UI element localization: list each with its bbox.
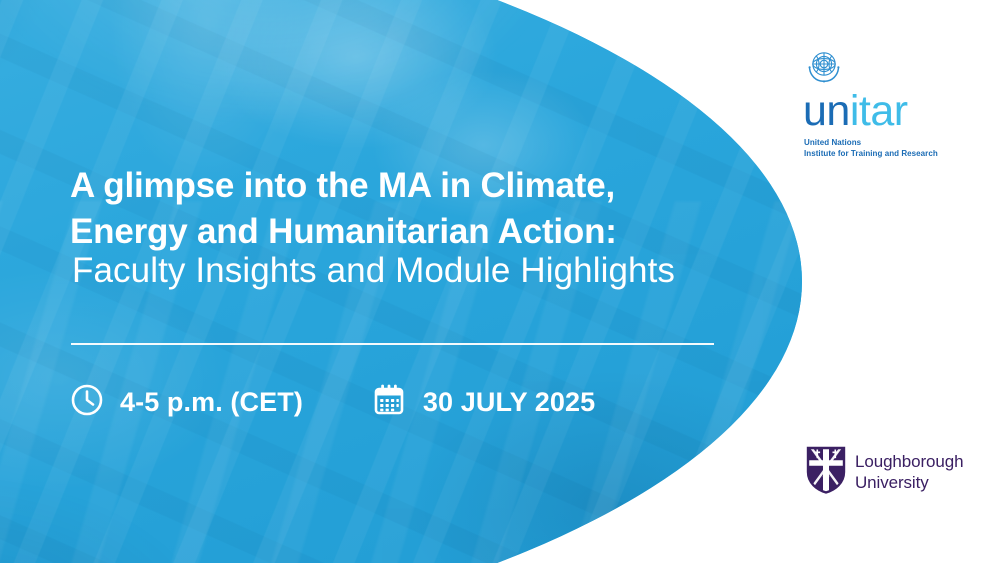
title-line-1: A glimpse into the MA in Climate,	[70, 163, 720, 209]
unitar-wordmark: unitar	[803, 91, 952, 132]
unitar-tagline-line-1: United Nations	[804, 137, 952, 148]
unitar-tagline: United Nations Institute for Training an…	[804, 137, 952, 160]
un-emblem-icon	[804, 48, 952, 89]
loughborough-shield-icon	[806, 446, 846, 499]
page-subtitle: Faculty Insights and Module Highlights	[72, 249, 732, 293]
event-date-text: 30 JULY 2025	[423, 387, 595, 418]
event-details-row: 4-5 p.m. (CET)	[70, 382, 595, 423]
loughborough-name-line-1: Loughborough	[855, 452, 963, 472]
event-poster: A glimpse into the MA in Climate, Energy…	[0, 0, 1000, 563]
clock-icon	[70, 383, 104, 422]
loughborough-logo: Loughborough University	[806, 446, 963, 499]
event-time: 4-5 p.m. (CET)	[70, 383, 303, 422]
event-date: 30 JULY 2025	[371, 382, 595, 423]
unitar-tagline-line-2: Institute for Training and Research	[804, 148, 952, 159]
event-time-text: 4-5 p.m. (CET)	[120, 387, 303, 418]
horizontal-divider	[71, 343, 714, 345]
poster-content: A glimpse into the MA in Climate, Energy…	[70, 0, 730, 563]
page-title: A glimpse into the MA in Climate, Energy…	[70, 163, 720, 254]
loughborough-name-line-2: University	[855, 473, 963, 493]
loughborough-wordmark: Loughborough University	[855, 452, 963, 492]
title-line-2: Energy and Humanitarian Action:	[70, 209, 720, 255]
unitar-wordmark-itar: itar	[850, 87, 908, 135]
unitar-logo: unitar United Nations Institute for Trai…	[802, 48, 952, 160]
calendar-icon	[371, 382, 407, 423]
unitar-wordmark-un: un	[803, 87, 850, 135]
